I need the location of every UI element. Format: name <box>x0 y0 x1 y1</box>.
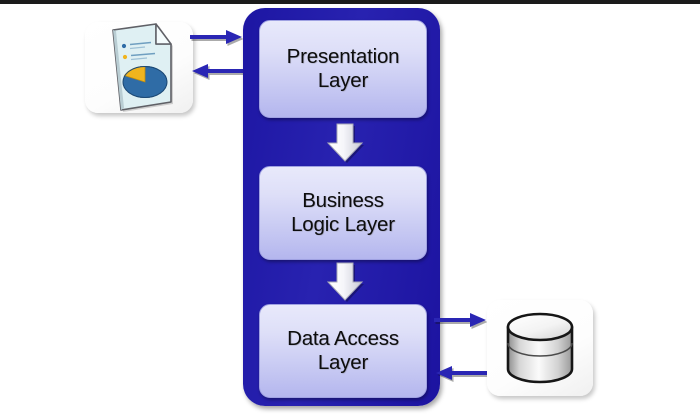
flow-arrow-presentation-to-business <box>325 123 365 163</box>
top-edge-bar <box>0 0 700 4</box>
layer-label-line1: Data Access <box>287 327 399 350</box>
flow-arrow-business-to-data-access <box>325 262 365 302</box>
layer-label-line1: Business <box>302 189 384 212</box>
layer-label-line1: Presentation <box>287 45 400 68</box>
layer-label-line2: Logic Layer <box>291 213 395 236</box>
layer-box-business-logic[interactable]: Business Logic Layer <box>259 166 427 260</box>
layer-label-line2: Layer <box>318 69 368 92</box>
layer-label-line2: Layer <box>318 351 368 374</box>
connector-database-to-data-access <box>434 364 492 386</box>
layer-label-presentation: Presentation Layer <box>283 45 404 92</box>
document-report-icon <box>85 22 193 113</box>
connector-client-to-presentation <box>190 28 248 50</box>
tier-container: Presentation Layer Business L <box>243 8 440 406</box>
layer-box-data-access[interactable]: Data Access Layer <box>259 304 427 398</box>
layer-label-data-access: Data Access Layer <box>283 327 403 374</box>
client-report-tile[interactable] <box>85 22 193 113</box>
layer-label-business-logic: Business Logic Layer <box>287 189 399 236</box>
diagram-canvas: Presentation Layer Business L <box>0 0 700 414</box>
connector-data-access-to-database <box>434 311 492 333</box>
connector-presentation-to-client <box>190 62 248 84</box>
layer-box-presentation[interactable]: Presentation Layer <box>259 20 427 118</box>
database-tile[interactable] <box>487 300 593 396</box>
database-cylinder-icon <box>487 300 593 396</box>
document-pie-chart <box>123 66 167 97</box>
